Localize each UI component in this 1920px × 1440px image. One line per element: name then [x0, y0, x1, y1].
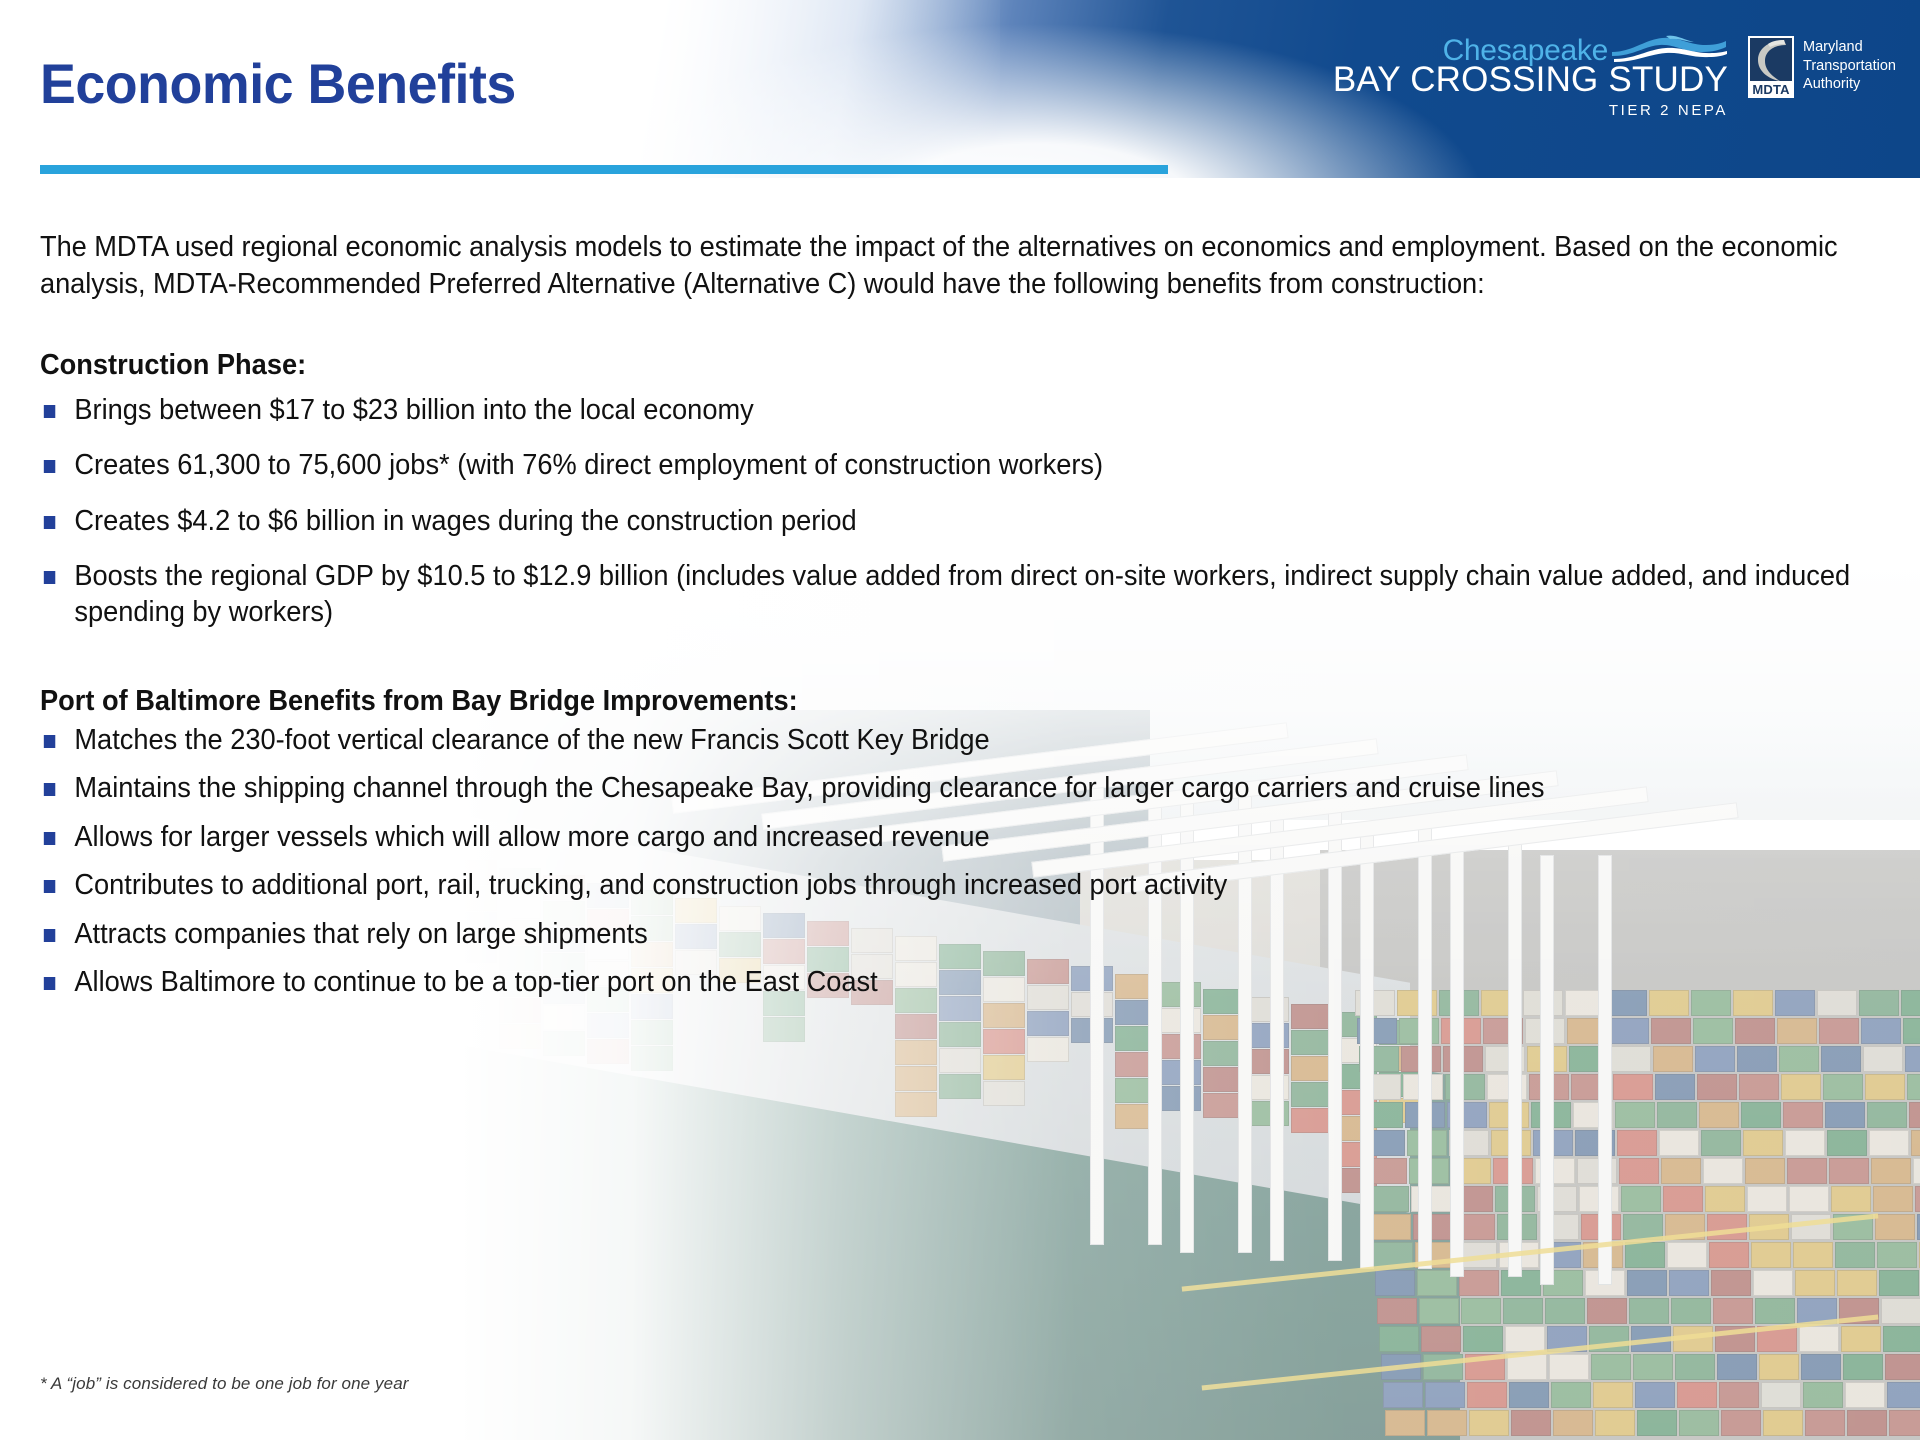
slide-content: The MDTA used regional economic analysis… — [40, 200, 1885, 1013]
wave-icon — [1610, 32, 1728, 62]
section-heading-port: Port of Baltimore Benefits from Bay Brid… — [40, 685, 1802, 718]
list-item-text: Creates 61,300 to 75,600 jobs* (with 76%… — [74, 449, 1103, 481]
logo-chesapeake-text: Chesapeake — [1443, 36, 1608, 66]
bullet-square-icon — [44, 735, 55, 748]
bullet-square-icon — [44, 832, 55, 845]
list-item-text: Allows for larger vessels which will all… — [74, 821, 989, 853]
section-port-of-baltimore: Port of Baltimore Benefits from Bay Brid… — [40, 685, 1885, 1001]
logo-tier2-nepa-text: TIER 2 NEPA — [1609, 103, 1728, 118]
bullet-square-icon — [44, 783, 55, 796]
bullet-list-construction: Brings between $17 to $23 billion into t… — [40, 392, 1885, 631]
mdta-swoosh-icon — [1750, 38, 1792, 84]
intro-paragraph: The MDTA used regional economic analysis… — [40, 229, 1888, 303]
list-item: Allows Baltimore to continue to be a top… — [40, 964, 1920, 1000]
mdta-mark: MDTA — [1748, 36, 1794, 98]
bullet-square-icon — [44, 571, 55, 584]
list-item-text: Attracts companies that rely on large sh… — [74, 918, 647, 950]
list-item: Attracts companies that rely on large sh… — [40, 916, 1920, 952]
mdta-logo: MDTA Maryland Transportation Authority — [1748, 30, 1896, 98]
list-item-text: Allows Baltimore to continue to be a top… — [74, 966, 877, 998]
mdta-name-line1: Maryland — [1803, 38, 1896, 57]
bullet-square-icon — [44, 405, 55, 418]
bullet-square-icon — [44, 977, 55, 990]
title-underline-rule — [40, 165, 1168, 174]
slide-economic-benefits: Chesapeake BAY CROSSING STUDY TIER 2 NEP… — [0, 0, 1920, 1440]
list-item: Boosts the regional GDP by $10.5 to $12.… — [40, 558, 1920, 631]
bullet-square-icon — [44, 929, 55, 942]
list-item-text: Matches the 230-foot vertical clearance … — [74, 724, 989, 756]
list-item: Maintains the shipping channel through t… — [40, 770, 1920, 806]
list-item: Matches the 230-foot vertical clearance … — [40, 722, 1920, 758]
mdta-badge-text: MDTA — [1748, 81, 1794, 98]
logo-bay-crossing-study-text: BAY CROSSING STUDY — [1333, 62, 1728, 98]
list-item: Allows for larger vessels which will all… — [40, 819, 1920, 855]
list-item-text: Contributes to additional port, rail, tr… — [74, 869, 1227, 901]
list-item: Brings between $17 to $23 billion into t… — [40, 392, 1920, 428]
logo-top-row: Chesapeake — [1443, 34, 1728, 64]
list-item: Creates 61,300 to 75,600 jobs* (with 76%… — [40, 447, 1920, 483]
footnote: * A “job” is considered to be one job fo… — [40, 1374, 409, 1394]
list-item: Contributes to additional port, rail, tr… — [40, 867, 1920, 903]
section-construction-phase: Construction Phase: Brings between $17 t… — [40, 349, 1885, 631]
mdta-name-line2: Transportation — [1803, 57, 1896, 76]
list-item: Creates $4.2 to $6 billion in wages duri… — [40, 503, 1920, 539]
list-item-text: Brings between $17 to $23 billion into t… — [74, 394, 753, 426]
section-heading-construction: Construction Phase: — [40, 349, 1802, 382]
list-item-text: Maintains the shipping channel through t… — [74, 772, 1544, 804]
mdta-name-line3: Authority — [1803, 75, 1896, 94]
logo-group: Chesapeake BAY CROSSING STUDY TIER 2 NEP… — [1333, 30, 1896, 118]
bullet-square-icon — [44, 516, 55, 529]
mdta-agency-name: Maryland Transportation Authority — [1803, 36, 1896, 94]
bullet-square-icon — [44, 880, 55, 893]
chesapeake-bay-crossing-study-logo: Chesapeake BAY CROSSING STUDY TIER 2 NEP… — [1333, 30, 1728, 118]
list-item-text: Creates $4.2 to $6 billion in wages duri… — [74, 505, 856, 537]
bullet-square-icon — [44, 460, 55, 473]
page-title: Economic Benefits — [40, 56, 516, 112]
list-item-text: Boosts the regional GDP by $10.5 to $12.… — [74, 560, 1850, 628]
bullet-list-port: Matches the 230-foot vertical clearance … — [40, 722, 1885, 1001]
